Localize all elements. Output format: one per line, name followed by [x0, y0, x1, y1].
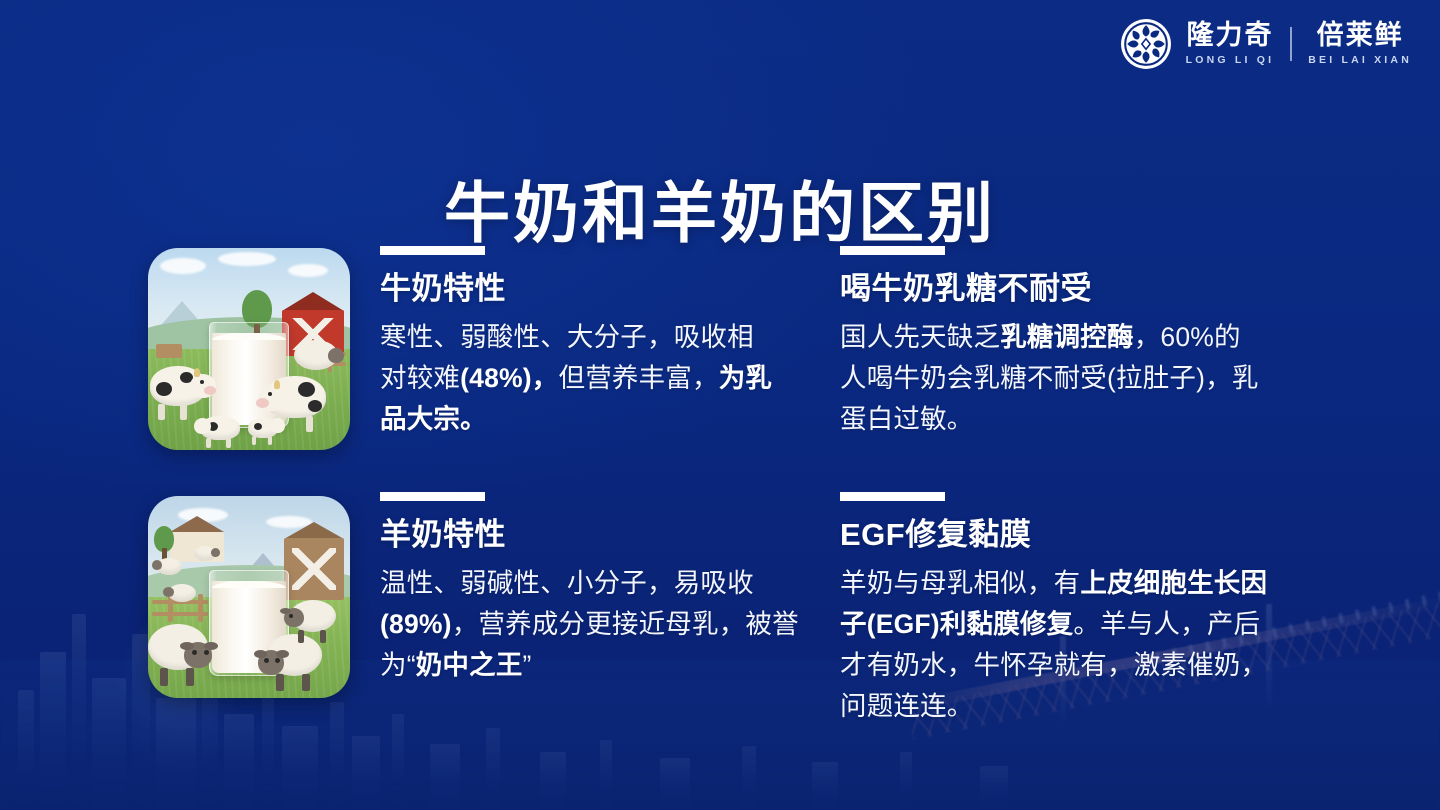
block-heading: 喝牛奶乳糖不耐受 [840, 271, 1260, 308]
info-block-milk-traits: 牛奶特性 寒性、弱酸性、大分子，吸收相对较难(48%)，但营养丰富，为乳品大宗。 [380, 246, 780, 440]
accent-bar [840, 246, 945, 255]
info-block-goat-milk-traits: 羊奶特性 温性、弱碱性、小分子，易吸收(89%)，营养成分更接近母乳，被誉为“奶… [380, 492, 810, 686]
accent-bar [380, 492, 485, 501]
content-area: 牛奶特性 寒性、弱酸性、大分子，吸收相对较难(48%)，但营养丰富，为乳品大宗。… [0, 238, 1440, 798]
block-body: 羊奶与母乳相似，有上皮细胞生长因子(EGF)利黏膜修复。羊与人，产后才有奶水，牛… [840, 563, 1270, 727]
block-heading: EGF修复黏膜 [840, 517, 1270, 554]
block-heading: 羊奶特性 [380, 517, 810, 554]
accent-bar [840, 492, 945, 501]
brand-primary: 隆力奇 LONG LI QI [1186, 22, 1275, 66]
info-block-lactose-intolerance: 喝牛奶乳糖不耐受 国人先天缺乏乳糖调控酶，60%的人喝牛奶会乳糖不耐受(拉肚子)… [840, 246, 1260, 440]
brand-primary-en: LONG LI QI [1186, 55, 1275, 66]
snowflake-emblem-icon [1120, 18, 1172, 70]
brand-primary-cn: 隆力奇 [1186, 22, 1273, 49]
brand-secondary-cn: 倍莱鲜 [1317, 22, 1404, 49]
presentation-slide: 隆力奇 LONG LI QI 倍莱鲜 BEI LAI XIAN 牛奶和羊奶的区别 [0, 0, 1440, 810]
cow-milk-photo [148, 248, 350, 450]
brand-secondary-en: BEI LAI XIAN [1308, 55, 1412, 66]
goat-milk-photo [148, 496, 350, 698]
info-block-egf-mucosa-repair: EGF修复黏膜 羊奶与母乳相似，有上皮细胞生长因子(EGF)利黏膜修复。羊与人，… [840, 492, 1270, 727]
brand-logo: 隆力奇 LONG LI QI 倍莱鲜 BEI LAI XIAN [1120, 18, 1412, 70]
brand-wordmarks: 隆力奇 LONG LI QI 倍莱鲜 BEI LAI XIAN [1186, 22, 1412, 66]
brand-secondary: 倍莱鲜 BEI LAI XIAN [1308, 22, 1412, 66]
brand-divider [1290, 27, 1292, 61]
block-body: 国人先天缺乏乳糖调控酶，60%的人喝牛奶会乳糖不耐受(拉肚子)，乳蛋白过敏。 [840, 317, 1260, 440]
block-body: 温性、弱碱性、小分子，易吸收(89%)，营养成分更接近母乳，被誉为“奶中之王” [380, 563, 810, 686]
accent-bar [380, 246, 485, 255]
block-body: 寒性、弱酸性、大分子，吸收相对较难(48%)，但营养丰富，为乳品大宗。 [380, 317, 780, 440]
block-heading: 牛奶特性 [380, 271, 780, 308]
